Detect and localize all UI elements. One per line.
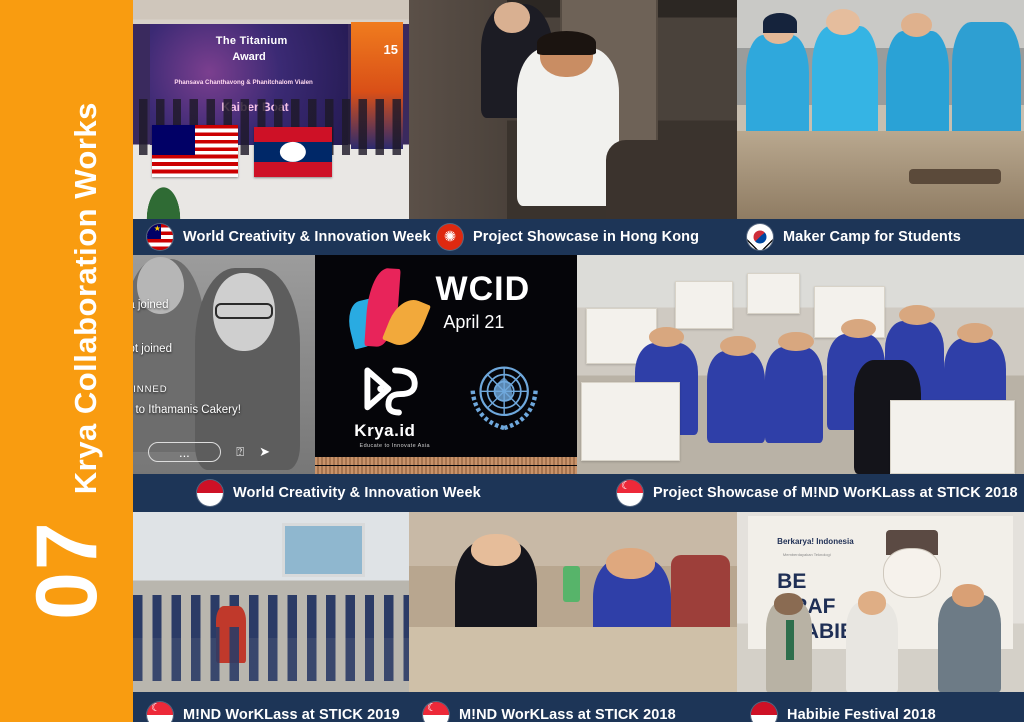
photo-worklass-2018 (409, 512, 737, 692)
live-overlay-comment: ions to Ithamanis Cakery! (133, 404, 241, 416)
malaysia-flag-icon (147, 224, 173, 250)
slide-number: 07 (24, 520, 110, 620)
caption-label: Project Showcase in Hong Kong (473, 229, 699, 245)
krya-logo-icon (357, 356, 425, 422)
caption-label: Habibie Festival 2018 (787, 707, 936, 722)
photo-award-ceremony: The Titanium Award Phansava Chanthavong … (133, 0, 409, 219)
indonesia-flag-icon (751, 702, 777, 722)
caption-item-worklass-2018: M!ND WorKLass at STICK 2018 (423, 692, 751, 722)
photo-instagram-live: ia joined dot joined PINNED ions to Itha… (133, 255, 315, 474)
poster-brand: Berkarya! Indonesia (777, 537, 853, 546)
sidebar-rail: 07 Krya Collaboration Works (0, 0, 133, 722)
south-korea-flag-icon (747, 224, 773, 250)
poster-subtitle: Memberdayakan Teknologi (783, 552, 831, 557)
award-banner-number: 15 (384, 42, 398, 57)
caption-label: World Creativity & Innovation Week (233, 485, 481, 501)
question-icon[interactable]: ⍰ (236, 444, 244, 460)
caption-label: Maker Camp for Students (783, 229, 961, 245)
indonesia-flag-icon (197, 480, 223, 506)
slide-root: 07 Krya Collaboration Works The Titanium… (0, 0, 1024, 722)
caption-item-hongkong: Project Showcase in Hong Kong (437, 219, 747, 255)
live-overlay-2: dot joined (133, 343, 172, 355)
sidebar-rail-content: 07 Krya Collaboration Works (24, 102, 110, 620)
photo-row-1: The Titanium Award Phansava Chanthavong … (133, 0, 1024, 219)
singapore-flag-icon (617, 480, 643, 506)
caption-label: M!ND WorKLass at STICK 2018 (459, 707, 676, 722)
photo-row-3: Berkarya! Indonesia Memberdayakan Teknol… (133, 512, 1024, 692)
live-comment-input[interactable]: ... (148, 442, 222, 462)
wcid-subtitle: April 21 (443, 312, 504, 333)
caption-strip-3: M!ND WorKLass at STICK 2019 M!ND WorKLas… (133, 692, 1024, 722)
caption-label: Project Showcase of M!ND WorKLass at STI… (653, 485, 1018, 501)
photo-student-portrait (409, 0, 737, 219)
caption-item-wciw-id: World Creativity & Innovation Week (197, 474, 617, 512)
live-overlay-1: ia joined (133, 299, 169, 311)
photo-maker-camp (737, 0, 1024, 219)
caption-label: World Creativity & Innovation Week (183, 229, 431, 245)
caption-strip-2: World Creativity & Innovation Week Proje… (133, 474, 1024, 512)
caption-item-habibie: Habibie Festival 2018 (751, 692, 936, 722)
photo-stick-2018-group (577, 255, 1024, 474)
page-title: Krya Collaboration Works (70, 102, 101, 494)
laos-flag-held (254, 127, 331, 177)
united-nations-emblem-icon (457, 351, 551, 439)
photo-row-2: ia joined dot joined PINNED ions to Itha… (133, 255, 1024, 474)
send-icon[interactable]: ➤ (259, 444, 270, 460)
caption-item-wciw-my: World Creativity & Innovation Week (147, 219, 437, 255)
malaysia-flag-held (152, 125, 238, 178)
caption-item-maker-camp: Maker Camp for Students (747, 219, 961, 255)
caption-strip-1: World Creativity & Innovation Week Proje… (133, 219, 1024, 255)
gallery-content: The Titanium Award Phansava Chanthavong … (133, 0, 1024, 722)
poster-word-1: BE (777, 570, 806, 594)
hong-kong-flag-icon (437, 224, 463, 250)
krya-brand: Krya.id (354, 421, 415, 441)
caption-item-stick-2018: Project Showcase of M!ND WorKLass at STI… (617, 474, 1018, 512)
singapore-flag-icon (423, 702, 449, 722)
caption-label: M!ND WorKLass at STICK 2019 (183, 707, 400, 722)
award-screen-title-2: Award (232, 51, 265, 63)
live-overlay-pinned: PINNED (133, 384, 168, 395)
photo-habibie-festival: Berkarya! Indonesia Memberdayakan Teknol… (737, 512, 1024, 692)
caption-item-stick-2019: M!ND WorKLass at STICK 2019 (147, 692, 423, 722)
award-screen-names: Phansava Chanthavong & Phanitchalom Vial… (174, 79, 312, 86)
singapore-flag-icon (147, 702, 173, 722)
krya-tagline: Educate to Innovate Asia (360, 443, 430, 449)
photo-wcid-slide: WCID April 21 Krya.id Educate to Innovat… (315, 255, 577, 474)
photo-stick-2019-hall (133, 512, 409, 692)
wcid-title: WCID (436, 270, 531, 309)
award-screen-title-1: The Titanium (216, 35, 288, 47)
